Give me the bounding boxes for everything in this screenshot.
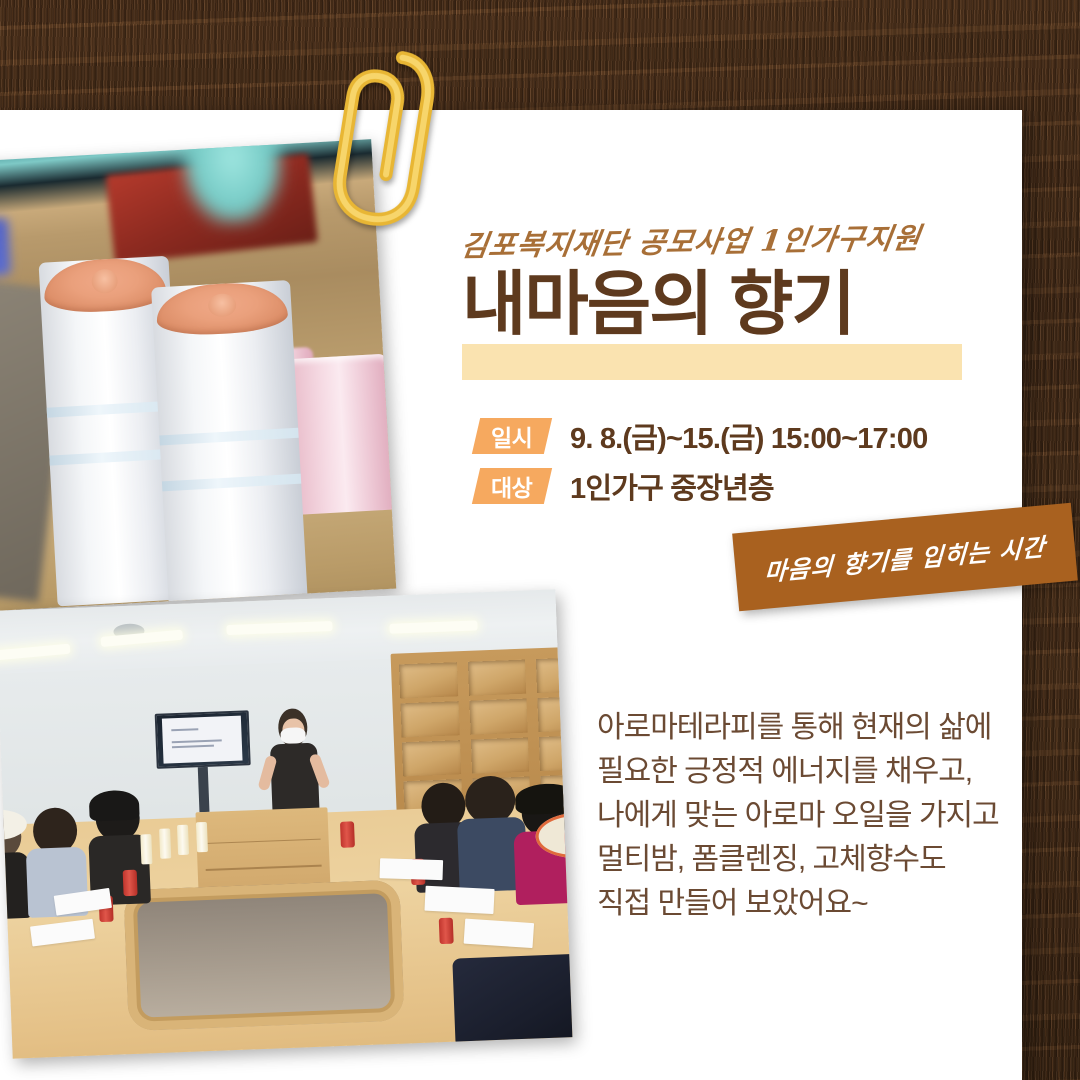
bucket-hat	[88, 789, 139, 821]
body-line: 직접 만들어 보았어요~	[597, 882, 999, 926]
table-center-well	[123, 880, 404, 1031]
poster-root: 김포복지재단 공모사업 1인가구지원 내마음의 향기 일시 9. 8.(금)~1…	[0, 0, 1080, 1080]
oil-bottle	[140, 834, 152, 864]
photo-bottom-scene	[0, 589, 572, 1058]
body-line: 필요한 긍정적 에너지를 채우고,	[597, 750, 999, 794]
black-bag	[452, 953, 572, 1049]
info-row-date: 일시 9. 8.(금)~15.(금) 15:00~17:00	[476, 415, 927, 457]
tagline-text: 마음의 향기를 입히는 시간	[764, 527, 1047, 588]
title-block: 내마음의 향기	[462, 268, 982, 383]
participant	[464, 775, 518, 887]
photo-class-session	[0, 589, 572, 1058]
info-row-audience: 대상 1인가구 중장년층	[476, 465, 774, 507]
balm-stick-right	[151, 280, 308, 611]
info-value-date: 9. 8.(금)~15.(금) 15:00~17:00	[570, 415, 927, 457]
body-line: 아로마테라피를 통해 현재의 삶에	[597, 706, 999, 750]
body-line: 멀티밤, 폼클렌징, 고체향수도	[597, 838, 999, 882]
screen-stand	[198, 767, 210, 813]
body-line: 나에게 맞는 아로마 오일을 가지고	[597, 794, 999, 838]
oil-bottle	[159, 828, 171, 858]
pink-cap-front	[285, 353, 396, 515]
title-highlight-bar	[462, 344, 962, 380]
info-tag-audience: 대상	[472, 468, 552, 504]
worksheet	[463, 919, 533, 949]
subtitle: 김포복지재단 공모사업 1인가구지원	[458, 215, 924, 265]
info-value-audience: 1인가구 중장년층	[570, 465, 774, 507]
info-tag-audience-label: 대상	[491, 469, 532, 503]
info-tag-date-label: 일시	[491, 419, 532, 453]
worksheet	[380, 858, 443, 880]
red-cup	[123, 870, 138, 897]
blue-object	[0, 218, 11, 280]
oil-bottle	[196, 822, 208, 852]
teal-blur	[178, 139, 287, 228]
presentation-screen	[154, 710, 250, 769]
oil-bottle	[177, 825, 189, 855]
red-cup	[340, 821, 355, 848]
info-tag-date: 일시	[472, 418, 552, 454]
body-paragraph: 아로마테라피를 통해 현재의 삶에 필요한 긍정적 에너지를 채우고, 나에게 …	[597, 706, 999, 926]
page-title: 내마음의 향기	[462, 268, 854, 342]
worksheet	[424, 886, 494, 914]
red-cup	[438, 918, 453, 945]
